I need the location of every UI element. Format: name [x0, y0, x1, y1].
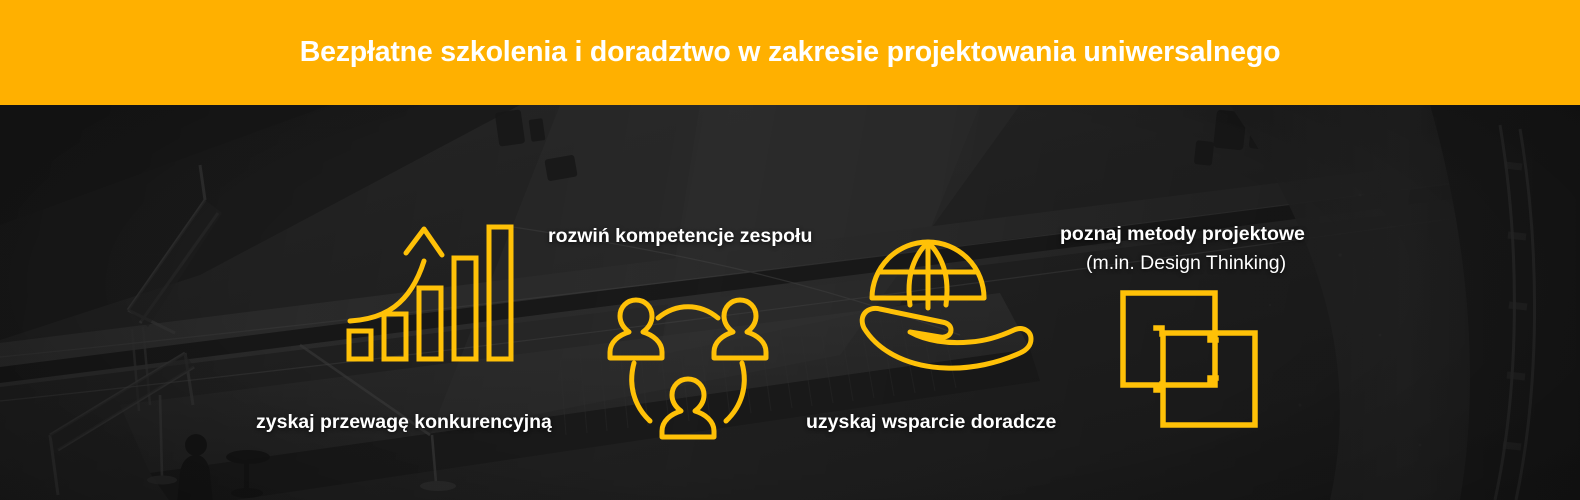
benefit-sublabel-methods: (m.in. Design Thinking)	[1086, 252, 1286, 275]
team-network-icon	[600, 290, 775, 445]
benefit-label-competence: rozwiń kompetencje zespołu	[548, 225, 812, 248]
benefit-label-support: uzyskaj wsparcie doradcze	[806, 411, 1056, 434]
globe-in-hand-icon	[852, 220, 1042, 365]
benefit-label-methods: poznaj metody projektowe	[1060, 223, 1305, 246]
page-title: Bezpłatne szkolenia i doradztwo w zakres…	[300, 38, 1281, 67]
header-band: Bezpłatne szkolenia i doradztwo w zakres…	[0, 0, 1580, 105]
promo-banner: Bezpłatne szkolenia i doradztwo w zakres…	[0, 0, 1580, 500]
overlapping-squares-icon	[1110, 285, 1260, 440]
benefit-label-advantage: zyskaj przewagę konkurencyjną	[256, 411, 552, 434]
benefits-layer: rozwiń kompetencje zespołu poznaj metody…	[0, 105, 1580, 500]
growth-chart-icon	[336, 213, 496, 358]
